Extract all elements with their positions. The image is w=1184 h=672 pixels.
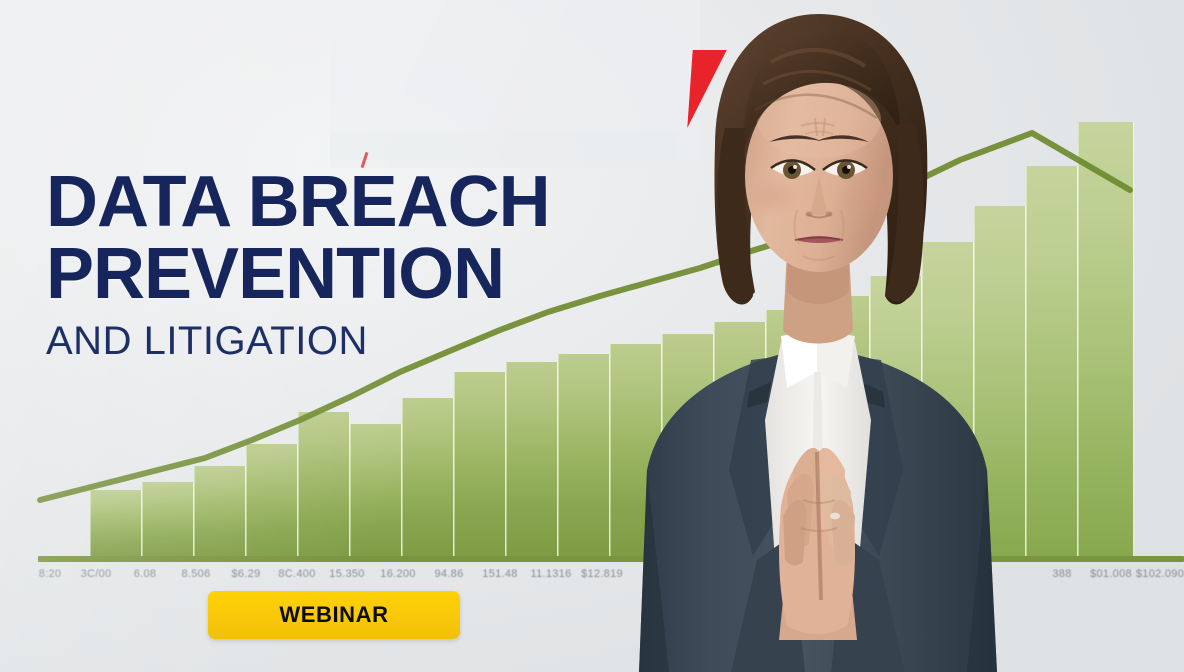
- axis-tick-label: $102.090: [1136, 568, 1184, 580]
- axis-tick-label: 6.08: [134, 568, 157, 580]
- headline-subtitle: AND LITIGATION: [46, 319, 646, 364]
- axis-tick-label: 151.48: [482, 568, 517, 580]
- headline-block: DATA BREACH PREVENTION AND LITIGATION: [46, 168, 646, 364]
- axis-tick-label: 16.200: [380, 568, 415, 580]
- headline-line-1: DATA BREACH: [46, 168, 646, 236]
- axis-tick-label: 3C/00: [81, 568, 112, 580]
- axis-tick-label: 8:20: [39, 568, 62, 580]
- axis-tick-label: 94.86: [434, 568, 463, 580]
- axis-tick-label: 8.506: [181, 568, 210, 580]
- webinar-cta-button[interactable]: WEBINAR: [208, 591, 460, 639]
- webinar-cta-label: WEBINAR: [279, 602, 388, 628]
- axis-tick-label: 15.350: [329, 568, 364, 580]
- face: [745, 80, 893, 272]
- axis-tick-label: 8C.400: [278, 568, 315, 580]
- axis-tick-label: $01.008: [1090, 568, 1132, 580]
- axis-tick-label: $6.29: [231, 568, 260, 580]
- banner-canvas: 8:203C/006.088.506$6.298C.40015.35016.20…: [0, 0, 1184, 672]
- headline-line-2: PREVENTION: [46, 240, 646, 308]
